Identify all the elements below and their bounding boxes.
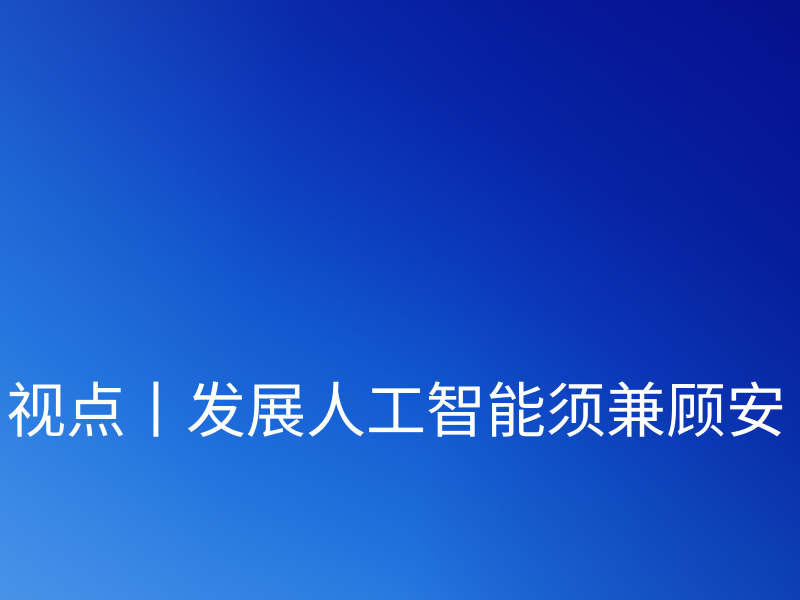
article-cover-banner: 视点丨发展人工智能须兼顾安 全底线和赶超意识 <box>0 0 800 600</box>
headline-title: 视点丨发展人工智能须兼顾安 全底线和赶超意识 <box>6 212 800 600</box>
headline-line-1: 视点丨发展人工智能须兼顾安 <box>6 372 800 452</box>
